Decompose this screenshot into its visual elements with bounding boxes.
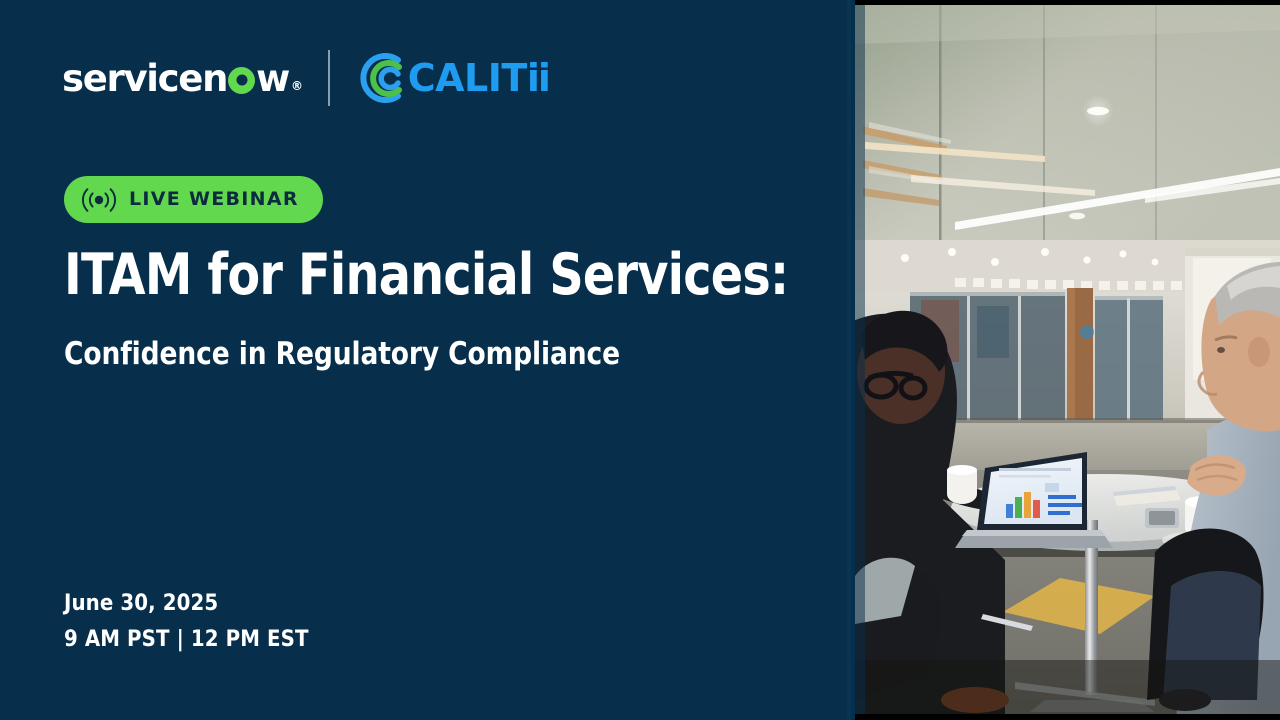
servicenow-logo: servicenw® — [62, 60, 302, 97]
servicenow-o-glyph — [228, 67, 255, 94]
office-meeting-illustration — [855, 0, 1280, 720]
live-broadcast-icon — [82, 187, 116, 213]
webinar-date: June 30, 2025 — [64, 586, 309, 622]
calitii-wordmark-main: CALIT — [408, 56, 527, 100]
live-webinar-badge-label: LIVE WEBINAR — [129, 190, 299, 209]
office-meeting-photo — [855, 0, 1280, 720]
calitii-logo: CALITii — [358, 51, 549, 105]
logo-lockup: servicenw® CALITii — [62, 48, 549, 108]
calitii-wordmark: CALITii — [408, 59, 549, 97]
page-subtitle: Confidence in Regulatory Compliance — [64, 336, 796, 373]
logo-divider — [328, 50, 330, 106]
schedule-block: June 30, 2025 9 AM PST | 12 PM EST — [64, 586, 309, 657]
calitii-swirl-icon — [358, 51, 412, 105]
servicenow-wordmark-part2: w — [256, 60, 289, 97]
calitii-wordmark-suffix: ii — [527, 56, 549, 100]
servicenow-wordmark-part1: servicen — [62, 60, 227, 97]
live-webinar-badge: LIVE WEBINAR — [64, 176, 323, 223]
letterbox-bar-top — [855, 0, 1280, 5]
registered-trademark-icon: ® — [291, 80, 302, 92]
webinar-promo-slide: servicenw® CALITii LIVE WEBINAR ITAM for… — [0, 0, 1280, 720]
webinar-time: 9 AM PST | 12 PM EST — [64, 622, 309, 658]
page-title: ITAM for Financial Services: — [64, 245, 780, 305]
letterbox-bar-bottom — [855, 714, 1280, 720]
